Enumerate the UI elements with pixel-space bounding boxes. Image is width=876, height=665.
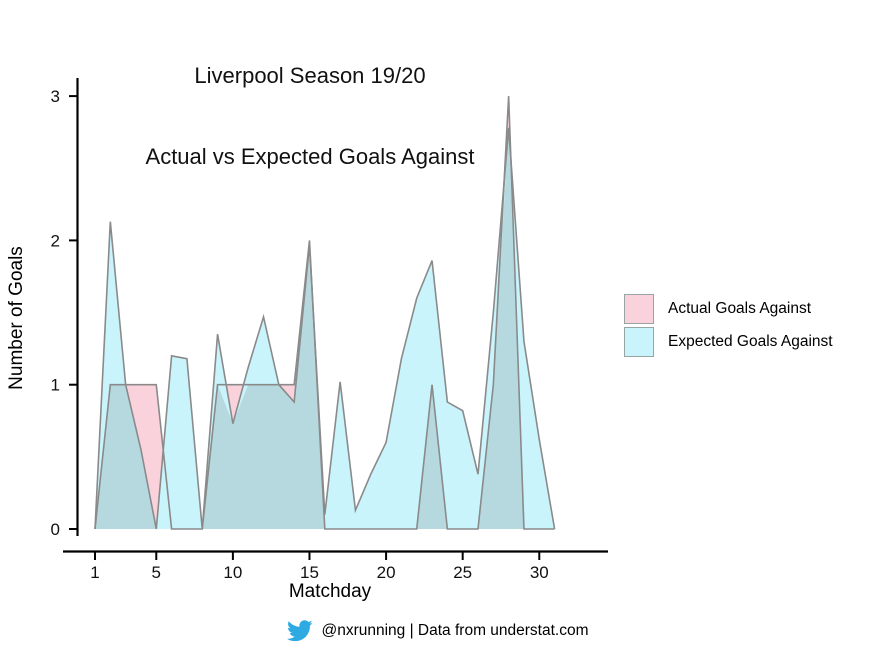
x-tick-label: 20: [377, 563, 396, 582]
legend-swatch-expected: [624, 327, 654, 357]
legend-swatch-actual: [624, 294, 654, 324]
x-tick-label: 10: [223, 563, 242, 582]
legend-item-actual: Actual Goals Against: [624, 292, 864, 325]
x-tick-label: 30: [530, 563, 549, 582]
chart-legend: Actual Goals Against Expected Goals Agai…: [624, 292, 864, 358]
y-axis-ticks: 0123: [51, 87, 78, 539]
caption-text: @nxrunning | Data from understat.com: [321, 622, 588, 640]
y-tick-label: 2: [51, 231, 60, 250]
chart-caption: @nxrunning | Data from understat.com: [0, 620, 876, 647]
y-tick-label: 0: [51, 520, 60, 539]
chart-page: Liverpool Season 19/20 Actual vs Expecte…: [0, 0, 876, 665]
plot-layers: [95, 96, 555, 529]
legend-label-expected: Expected Goals Against: [668, 333, 833, 351]
x-tick-label: 5: [152, 563, 161, 582]
y-tick-label: 3: [51, 87, 60, 106]
x-tick-label: 15: [300, 563, 319, 582]
series-line-actual: [95, 96, 555, 529]
x-tick-label: 1: [90, 563, 99, 582]
legend-label-actual: Actual Goals Against: [668, 300, 811, 318]
legend-item-expected: Expected Goals Against: [624, 325, 864, 358]
twitter-bird-icon: [287, 620, 313, 642]
x-axis-ticks: 151015202530: [90, 552, 548, 583]
x-axis-label: Matchday: [289, 581, 372, 602]
y-axis-label: Number of Goals: [6, 246, 27, 390]
y-tick-label: 1: [51, 376, 60, 395]
x-tick-label: 25: [453, 563, 472, 582]
